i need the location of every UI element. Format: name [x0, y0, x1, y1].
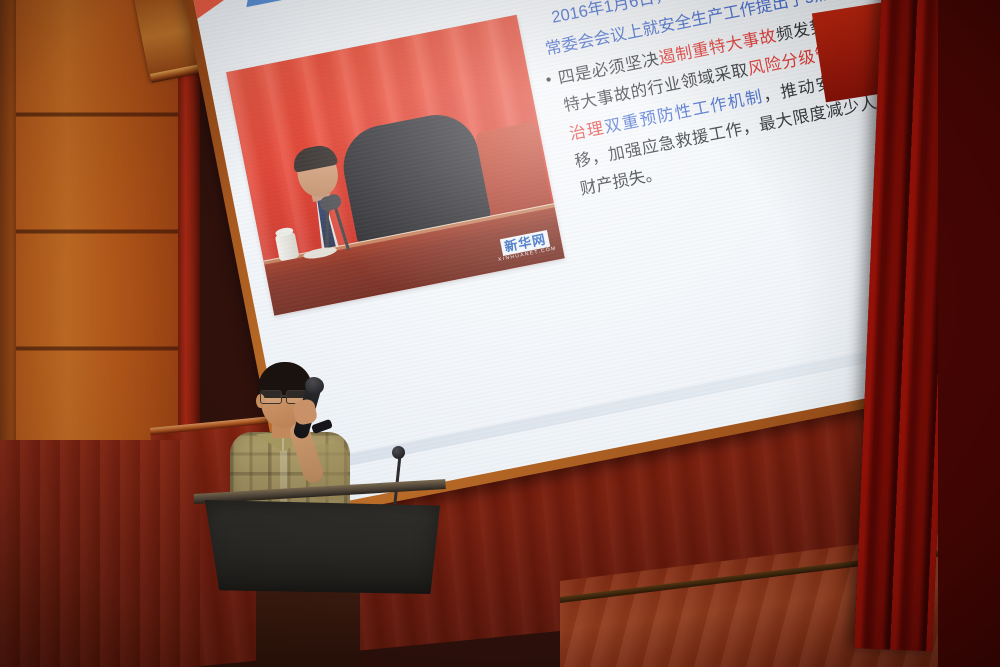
podium-base-column — [256, 590, 360, 667]
podium — [200, 498, 440, 667]
left-wall-seam — [0, 0, 16, 470]
gooseneck-microphone-icon — [392, 446, 405, 459]
glasses-bridge — [280, 395, 287, 397]
presentation-photo-scene: 1.双重预防的提出 新华网 XINHUANET.COM — [0, 0, 1000, 667]
glasses-lens-left — [260, 390, 282, 404]
podium-front-panel — [200, 500, 440, 594]
lower-wall-left-section — [0, 440, 200, 667]
right-curtain-back — [938, 0, 1000, 667]
slide-embedded-photo: 新华网 XINHUANET.COM — [226, 15, 565, 316]
